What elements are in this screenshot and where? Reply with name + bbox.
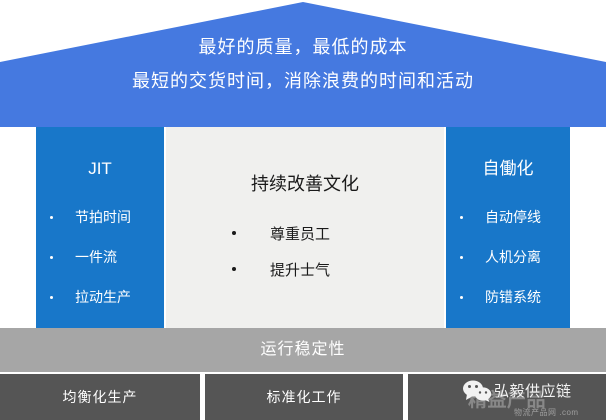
foundation-band[interactable]: 运行稳定性 (0, 328, 606, 372)
foundation-box-2[interactable] (408, 374, 606, 420)
pillar-jidoka-title: 自働化 (446, 160, 570, 177)
pillar-kaizen-culture[interactable]: 持续改善文化 尊重员工 提升士气 (166, 127, 444, 328)
pillar-jidoka-item-1: 人机分离 (485, 247, 541, 267)
list-item[interactable]: 一件流 (46, 237, 164, 277)
list-item[interactable]: 自动停线 (456, 197, 570, 237)
bullet-dot-icon (460, 296, 463, 299)
pillar-jidoka-item-2: 防错系统 (485, 287, 541, 307)
pillar-jidoka-list: 自动停线 人机分离 防错系统 (446, 197, 570, 317)
foundation-box-1-label: 标准化工作 (267, 390, 342, 404)
roof: 最好的质量，最低的成本 最短的交货时间，消除浪费的时间和活动 (0, 0, 606, 127)
pillar-kaizen-culture-list: 尊重员工 提升士气 (166, 215, 444, 287)
pillar-jit[interactable]: JIT 节拍时间 一件流 拉动生产 (36, 127, 164, 328)
list-item[interactable]: 防错系统 (456, 277, 570, 317)
bullet-dot-icon (460, 256, 463, 259)
pillar-jit-title: JIT (36, 160, 164, 177)
bullet-dot-icon (50, 296, 53, 299)
foundation-box-1[interactable]: 标准化工作 (205, 374, 403, 420)
pillar-row: JIT 节拍时间 一件流 拉动生产 持续改善文化 (0, 127, 606, 328)
bullet-dot-icon (232, 267, 236, 271)
pillar-jit-item-0: 节拍时间 (75, 207, 131, 227)
bullet-dot-icon (460, 216, 463, 219)
bullet-dot-icon (50, 216, 53, 219)
list-item[interactable]: 拉动生产 (46, 277, 164, 317)
list-item[interactable]: 节拍时间 (46, 197, 164, 237)
foundation-band-label: 运行稳定性 (260, 342, 345, 358)
pillar-jit-list: 节拍时间 一件流 拉动生产 (36, 197, 164, 317)
pillar-kaizen-culture-title: 持续改善文化 (166, 175, 444, 193)
pillar-jit-item-2: 拉动生产 (75, 287, 131, 307)
bullet-dot-icon (232, 231, 236, 235)
pillar-jidoka[interactable]: 自働化 自动停线 人机分离 防错系统 (446, 127, 570, 328)
bullet-dot-icon (50, 256, 53, 259)
list-item[interactable]: 尊重员工 (232, 215, 444, 251)
list-item[interactable]: 人机分离 (456, 237, 570, 277)
lean-house-diagram: 最好的质量，最低的成本 最短的交货时间，消除浪费的时间和活动 JIT 节拍时间 … (0, 0, 606, 420)
foundation-box-row: 均衡化生产 标准化工作 (0, 374, 606, 420)
pillar-jidoka-item-0: 自动停线 (485, 207, 541, 227)
pillar-jit-item-1: 一件流 (75, 247, 117, 267)
pillar-kaizen-culture-item-1: 提升士气 (270, 259, 330, 280)
foundation-box-0-label: 均衡化生产 (63, 390, 138, 404)
pillar-kaizen-culture-item-0: 尊重员工 (270, 223, 330, 244)
roof-shape (0, 0, 606, 127)
list-item[interactable]: 提升士气 (232, 251, 444, 287)
foundation-box-0[interactable]: 均衡化生产 (0, 374, 200, 420)
